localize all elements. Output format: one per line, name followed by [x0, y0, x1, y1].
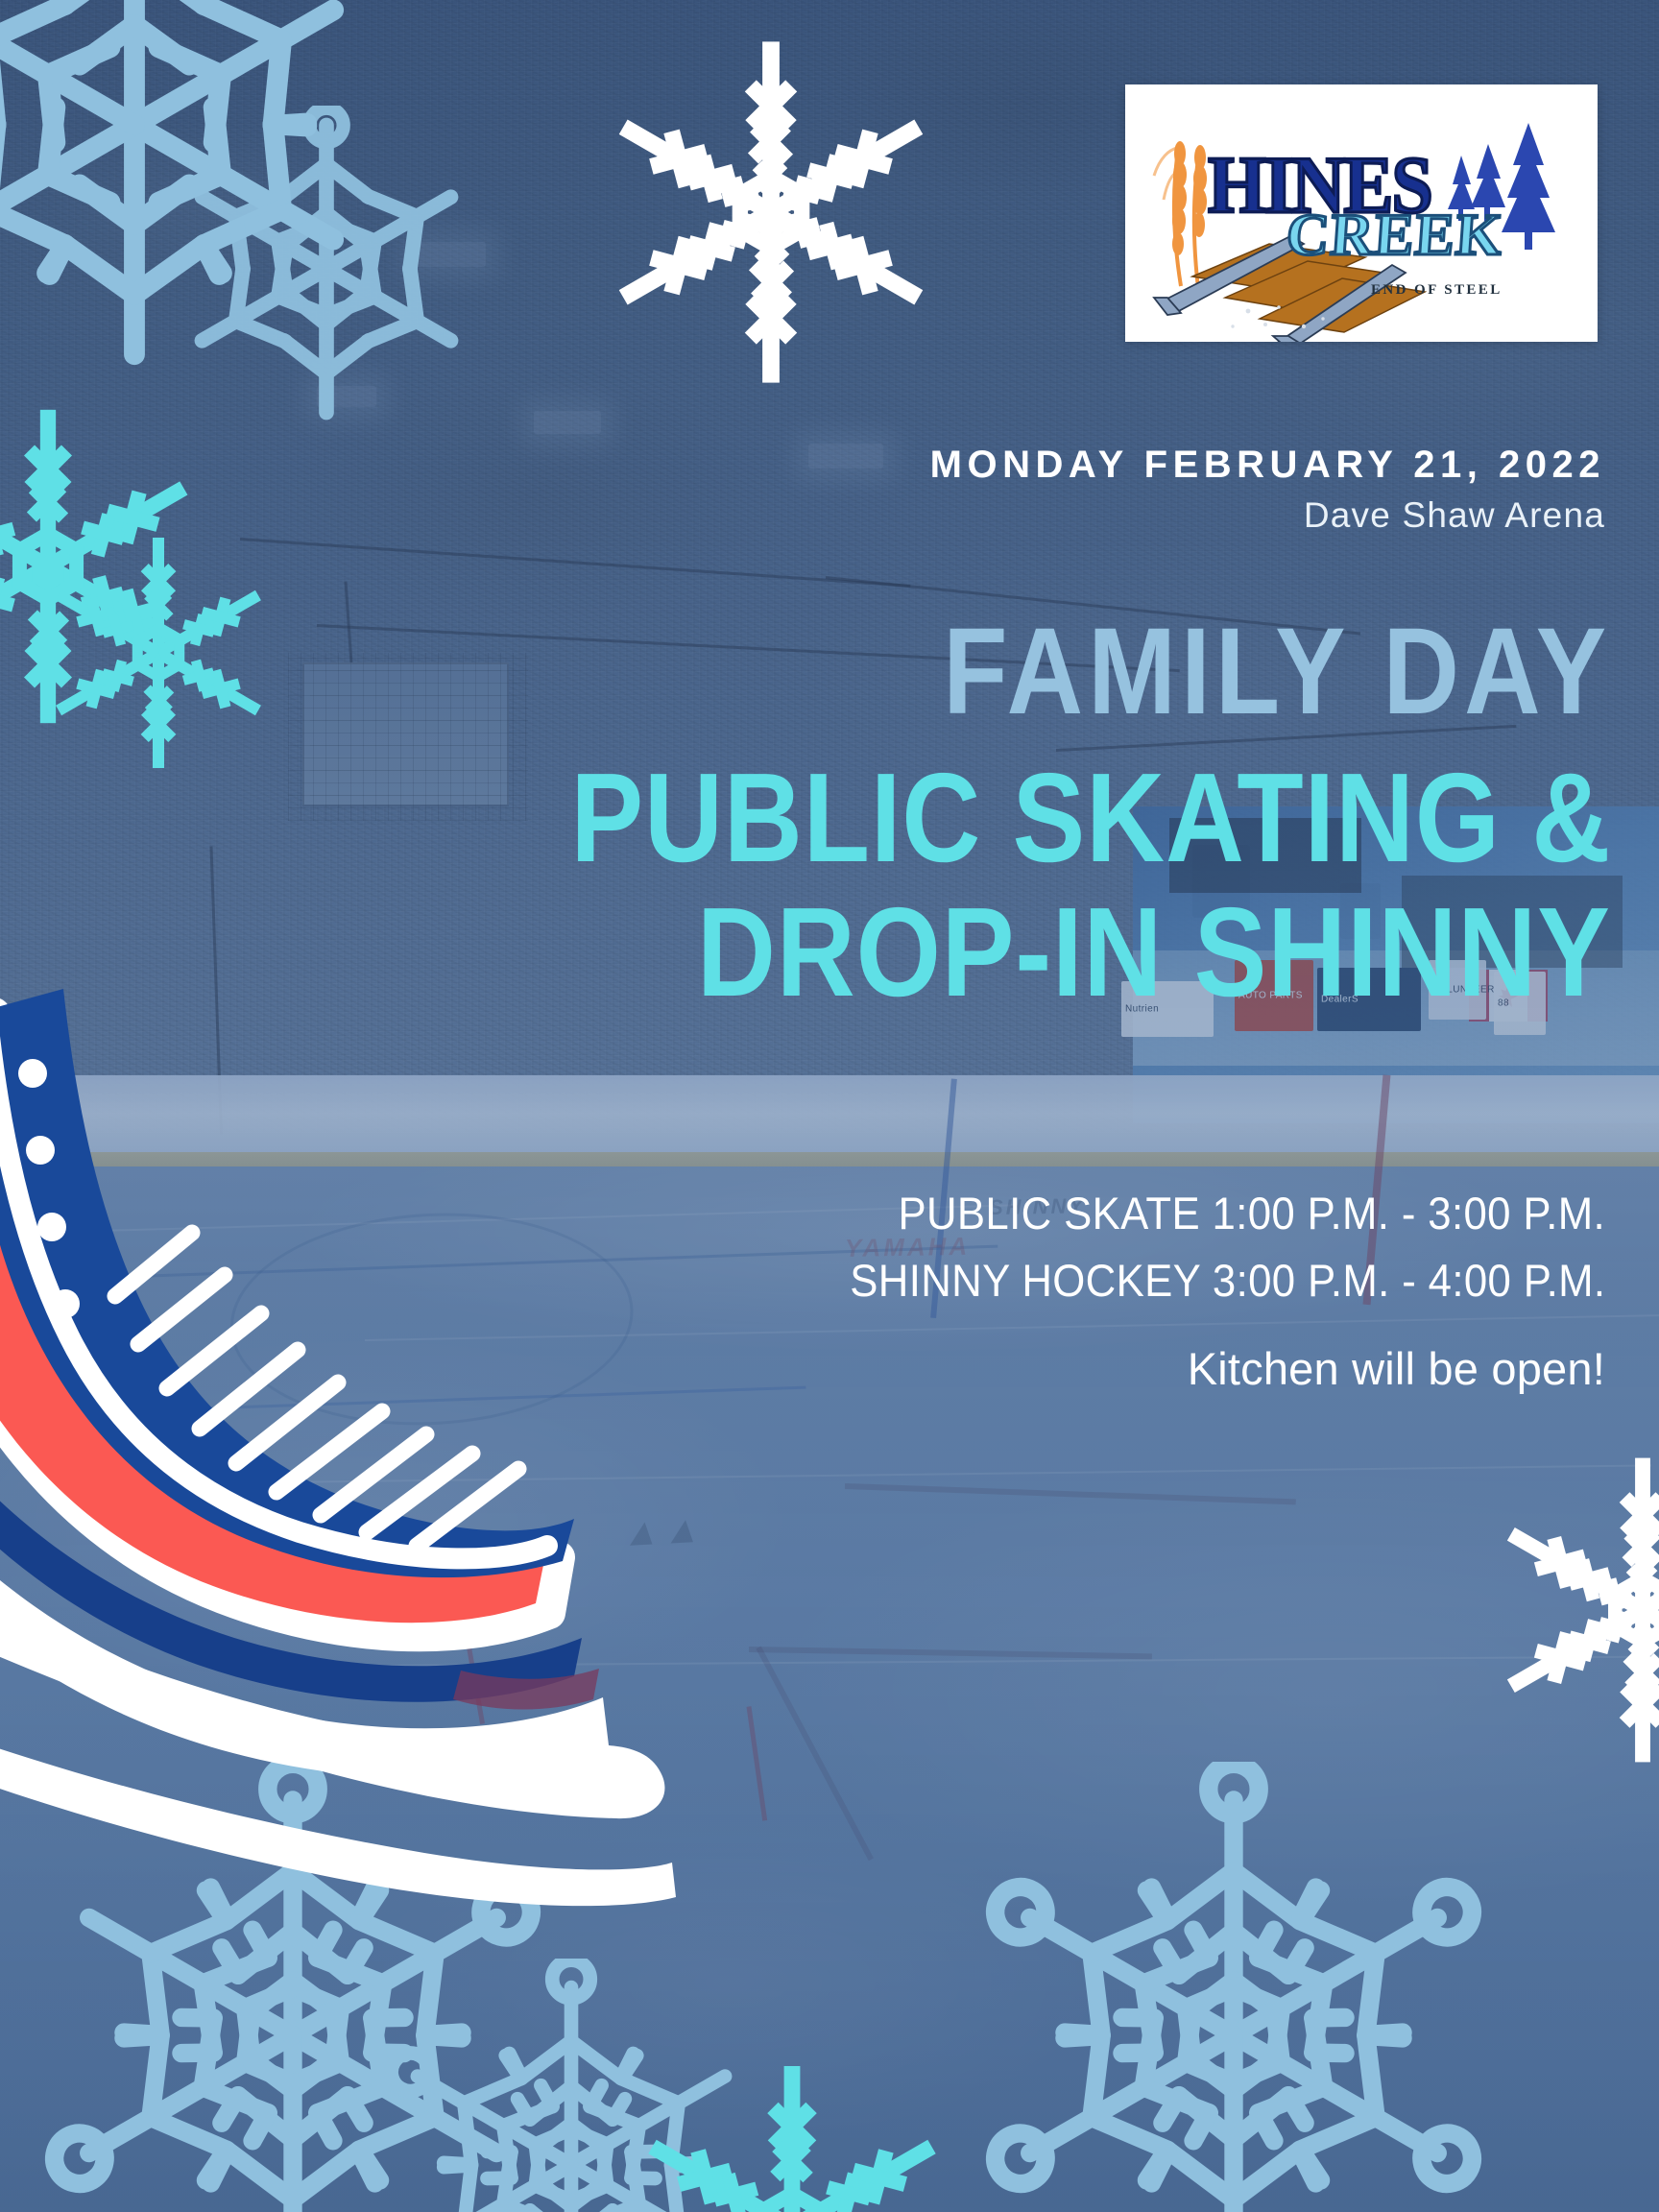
headline-family-day: FAMILY DAY — [943, 614, 1611, 730]
snowflake-bottom-cyan — [624, 2059, 960, 2212]
event-date: MONDAY FEBRUARY 21, 2022 — [930, 444, 1605, 487]
event-venue: Dave Shaw Arena — [1304, 495, 1605, 536]
ice-skate-illustration — [0, 845, 789, 1709]
logo-tagline: END OF STEEL — [1371, 282, 1503, 299]
hines-creek-logo: HINES CREEK END OF STEEL — [1125, 84, 1598, 342]
snowflake-left-cyan-small — [38, 533, 278, 773]
snowflake-top-center-white — [593, 35, 949, 390]
kitchen-note: Kitchen will be open! — [1188, 1342, 1605, 1395]
snowflake-top-left-small — [163, 106, 490, 432]
schedule-shinny-hockey: SHINNY HOCKEY 3:00 P.M. - 4:00 P.M. — [850, 1254, 1605, 1307]
logo-word-creek: CREEK — [1285, 202, 1505, 270]
snowflake-right-white — [1484, 1452, 1659, 1768]
snowflake-bottom-right-ring — [960, 1762, 1507, 2212]
schedule-public-skate: PUBLIC SKATE 1:00 P.M. - 3:00 P.M. — [898, 1187, 1605, 1239]
headline-drop-in-shinny: DROP-IN SHINNY — [697, 893, 1611, 1012]
poster-root: NutrienAUTO PARTSDealerSVOLUNTEER88 ▲▲ Y… — [0, 0, 1659, 2212]
